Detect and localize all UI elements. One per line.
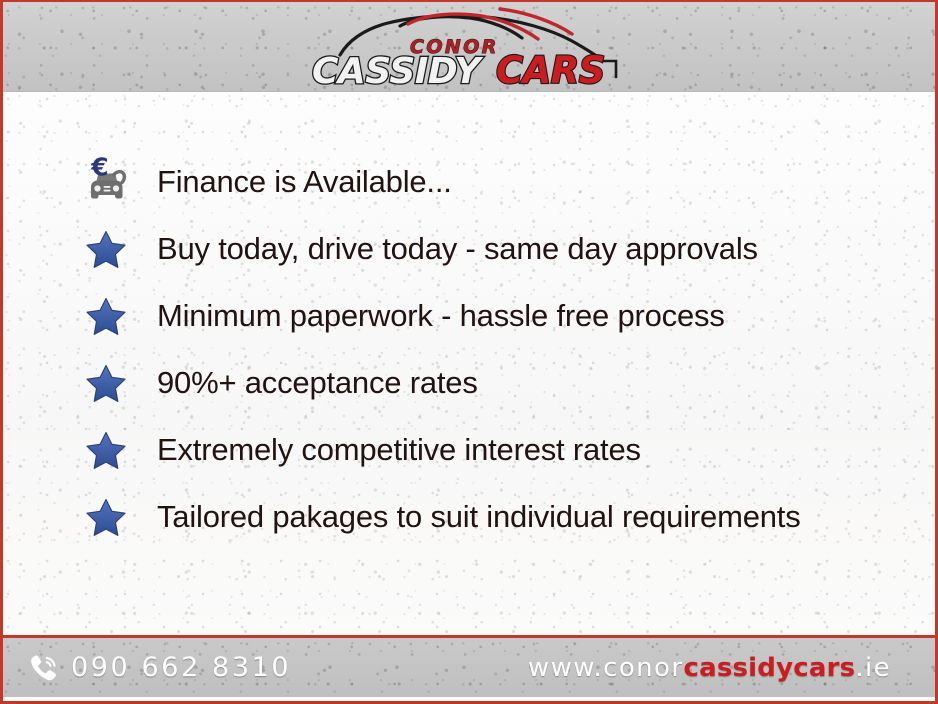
feature-text: Finance is Available... xyxy=(137,166,452,197)
footer-bar: 090 662 8310 www.conorcassidycars.ie xyxy=(3,635,935,697)
feature-text: 90%+ acceptance rates xyxy=(137,367,478,398)
phone-icon xyxy=(27,651,60,684)
euro-car-icon: € xyxy=(85,157,137,207)
header-banner: CONOR CASSIDY CARS xyxy=(3,2,935,92)
features-panel: € Finance is Available... xyxy=(3,92,935,635)
website-prefix: www.conor xyxy=(528,653,684,683)
logo-accent-word: CARS xyxy=(496,49,605,91)
feature-text: Minimum paperwork - hassle free process xyxy=(137,300,725,331)
website-brand: cassidycars xyxy=(683,653,855,683)
feature-item: Buy today, drive today - same day approv… xyxy=(3,215,935,282)
feature-item: Minimum paperwork - hassle free process xyxy=(3,282,935,349)
feature-text: Tailored pakages to suit individual requ… xyxy=(137,501,801,532)
star-icon xyxy=(85,228,137,270)
svg-text:€: € xyxy=(90,157,108,182)
star-icon xyxy=(85,295,137,337)
star-icon xyxy=(85,362,137,404)
feature-item: € Finance is Available... xyxy=(3,148,935,215)
phone-contact[interactable]: 090 662 8310 xyxy=(27,651,291,684)
feature-item: Tailored pakages to suit individual requ… xyxy=(3,483,935,550)
advertisement-card: CONOR CASSIDY CARS xyxy=(0,0,938,704)
feature-list: € Finance is Available... xyxy=(3,92,935,550)
feature-item: Extremely competitive interest rates xyxy=(3,416,935,483)
feature-item: 90%+ acceptance rates xyxy=(3,349,935,416)
star-icon xyxy=(85,429,137,471)
feature-text: Buy today, drive today - same day approv… xyxy=(137,233,758,264)
logo-main-word: CASSIDY xyxy=(312,51,484,91)
website-suffix: .ie xyxy=(855,653,891,683)
star-icon xyxy=(85,496,137,538)
phone-number: 090 662 8310 xyxy=(71,652,291,683)
feature-text: Extremely competitive interest rates xyxy=(137,434,641,465)
brand-logo[interactable]: CONOR CASSIDY CARS xyxy=(304,3,634,91)
website-url[interactable]: www.conorcassidycars.ie xyxy=(528,653,891,683)
